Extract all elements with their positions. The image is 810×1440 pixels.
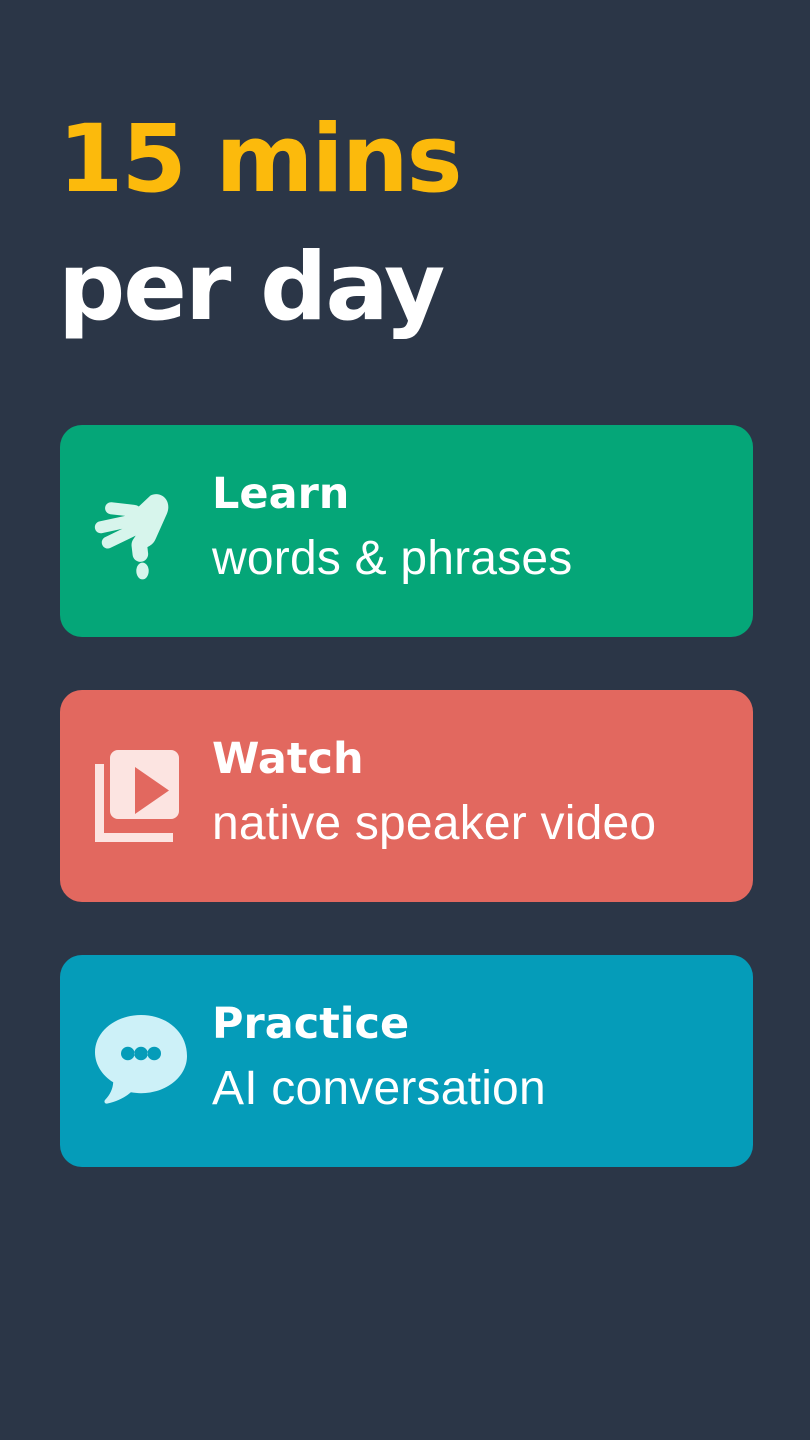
feature-card-learn[interactable]: Learn words & phrases — [60, 425, 753, 637]
feature-card-subtitle: words & phrases — [212, 522, 573, 596]
feature-card-text: Practice AI conversation — [212, 996, 566, 1126]
headline-line-2: per day — [58, 224, 758, 352]
feature-card-subtitle: AI conversation — [212, 1052, 546, 1126]
feature-card-text: Watch native speaker video — [212, 731, 676, 861]
video-stack-play-icon — [60, 690, 212, 902]
chat-bubble-dots-icon — [60, 955, 212, 1167]
headline-line-1: 15 mins — [58, 96, 758, 224]
feature-card-title: Learn — [212, 466, 573, 522]
feature-card-title: Watch — [212, 731, 656, 787]
feature-card-watch[interactable]: Watch native speaker video — [60, 690, 753, 902]
feature-card-subtitle: native speaker video — [212, 787, 656, 861]
hand-tap-icon — [60, 425, 212, 637]
feature-card-practice[interactable]: Practice AI conversation — [60, 955, 753, 1167]
feature-card-text: Learn words & phrases — [212, 466, 593, 596]
feature-card-title: Practice — [212, 996, 546, 1052]
feature-card-list: Learn words & phrases Watch native speak… — [60, 425, 753, 1167]
headline-block: 15 mins per day — [58, 96, 758, 352]
